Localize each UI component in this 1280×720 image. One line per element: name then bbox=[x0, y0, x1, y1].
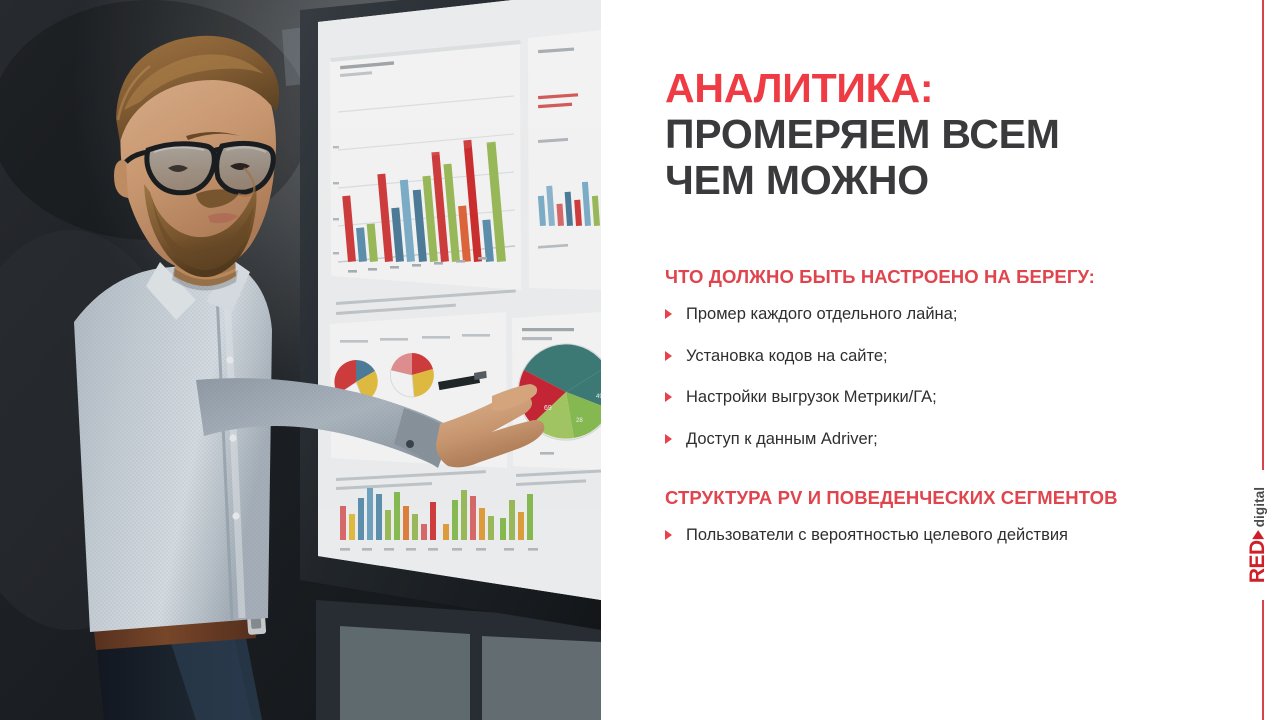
section-pv-structure-list: Пользователи с вероятностью целевого дей… bbox=[665, 525, 1265, 546]
rail-line-lower bbox=[1262, 600, 1264, 720]
logo: RED digital bbox=[1208, 470, 1280, 600]
list-item-label: Доступ к данным Adriver; bbox=[686, 430, 878, 448]
section-pv-structure: СТРУКТУРА PV И ПОВЕДЕНЧЕСКИХ СЕГМЕНТОВ П… bbox=[665, 487, 1265, 546]
logo-suffix: digital bbox=[1252, 487, 1267, 527]
section-setup-heading: ЧТО ДОЛЖНО БЫТЬ НАСТРОЕНО НА БЕРЕГУ: bbox=[665, 266, 1265, 288]
list-item-label: Установка кодов на сайте; bbox=[686, 347, 888, 365]
presenter-photo: 69 28 49 bbox=[0, 0, 601, 720]
play-triangle-icon bbox=[1252, 530, 1264, 539]
content-panel: АНАЛИТИКА: ПРОМЕРЯЕМ ВСЕМ ЧЕМ МОЖНО ЧТО … bbox=[601, 0, 1280, 720]
slide: 69 28 49 bbox=[0, 0, 1280, 720]
triangle-bullet-icon bbox=[665, 351, 672, 361]
logo-brand: RED bbox=[1246, 530, 1270, 583]
list-item-label: Настройки выгрузок Метрики/ГА; bbox=[686, 388, 937, 406]
triangle-bullet-icon bbox=[665, 392, 672, 402]
title-line-2: ПРОМЕРЯЕМ ВСЕМ bbox=[665, 112, 1225, 158]
title-line-3: ЧЕМ МОЖНО bbox=[665, 158, 1225, 204]
list-item: Установка кодов на сайте; bbox=[665, 346, 1265, 367]
logo-brand-text: RED bbox=[1246, 540, 1270, 583]
page-title: АНАЛИТИКА: ПРОМЕРЯЕМ ВСЕМ ЧЕМ МОЖНО bbox=[665, 66, 1225, 204]
list-item-label: Промер каждого отдельного лайна; bbox=[686, 305, 957, 323]
section-pv-structure-heading: СТРУКТУРА PV И ПОВЕДЕНЧЕСКИХ СЕГМЕНТОВ bbox=[665, 487, 1265, 509]
rail-line-upper bbox=[1262, 0, 1264, 470]
title-line-1: АНАЛИТИКА: bbox=[665, 66, 1225, 112]
list-item: Доступ к данным Adriver; bbox=[665, 429, 1265, 450]
section-setup: ЧТО ДОЛЖНО БЫТЬ НАСТРОЕНО НА БЕРЕГУ: Про… bbox=[665, 266, 1265, 450]
triangle-bullet-icon bbox=[665, 434, 672, 444]
list-item: Настройки выгрузок Метрики/ГА; bbox=[665, 387, 1265, 408]
list-item: Пользователи с вероятностью целевого дей… bbox=[665, 525, 1265, 546]
logo-inner: RED digital bbox=[1246, 487, 1270, 583]
triangle-bullet-icon bbox=[665, 530, 672, 540]
triangle-bullet-icon bbox=[665, 309, 672, 319]
list-item-label: Пользователи с вероятностью целевого дей… bbox=[686, 526, 1068, 544]
right-rail: RED digital bbox=[1240, 0, 1280, 720]
section-setup-list: Промер каждого отдельного лайна; Установ… bbox=[665, 304, 1265, 450]
list-item: Промер каждого отдельного лайна; bbox=[665, 304, 1265, 325]
